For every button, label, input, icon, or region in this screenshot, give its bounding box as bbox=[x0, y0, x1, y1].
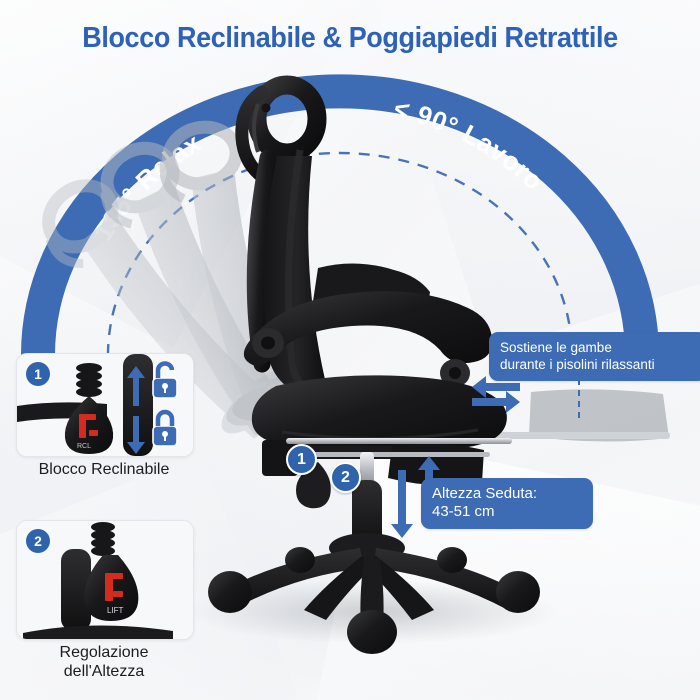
callout-legs-line1: Sostiene le gambe bbox=[500, 339, 696, 356]
callout-seat-height: Altezza Seduta: 43-51 cm bbox=[421, 478, 593, 529]
detail-panel-height-adjust: 2 LIFT bbox=[16, 520, 194, 640]
svg-text:LIFT: LIFT bbox=[107, 606, 124, 615]
callout-height-line2: 43-51 cm bbox=[432, 503, 582, 521]
detail-panel-recline-lock: 1 RCL bbox=[16, 353, 194, 457]
callout-height-line1: Altezza Seduta: bbox=[432, 485, 582, 503]
callout-legs-line2: durante i pisolini rilassanti bbox=[500, 356, 696, 373]
chair-marker-1: 1 bbox=[286, 444, 317, 475]
infographic-canvas: Blocco Reclinabile & Poggiapiedi Retratt… bbox=[0, 0, 700, 700]
panel-1-caption: Blocco Reclinabile bbox=[4, 461, 204, 480]
panel-2-caption-line2: dell'Altezza bbox=[4, 663, 204, 682]
callout-legs-support: Sostiene le gambe durante i pisolini ril… bbox=[489, 332, 700, 381]
panel-1-badge: 1 bbox=[26, 362, 50, 386]
panel-2-badge: 2 bbox=[26, 529, 50, 553]
panel-2-caption: Regolazione dell'Altezza bbox=[4, 644, 204, 682]
chair-marker-2: 2 bbox=[330, 462, 361, 493]
panel-1-caption-line1: Blocco Reclinabile bbox=[4, 461, 204, 480]
panel-2-caption-line1: Regolazione bbox=[4, 644, 204, 663]
chair-backrest bbox=[255, 150, 430, 394]
svg-text:RCL: RCL bbox=[77, 443, 91, 450]
